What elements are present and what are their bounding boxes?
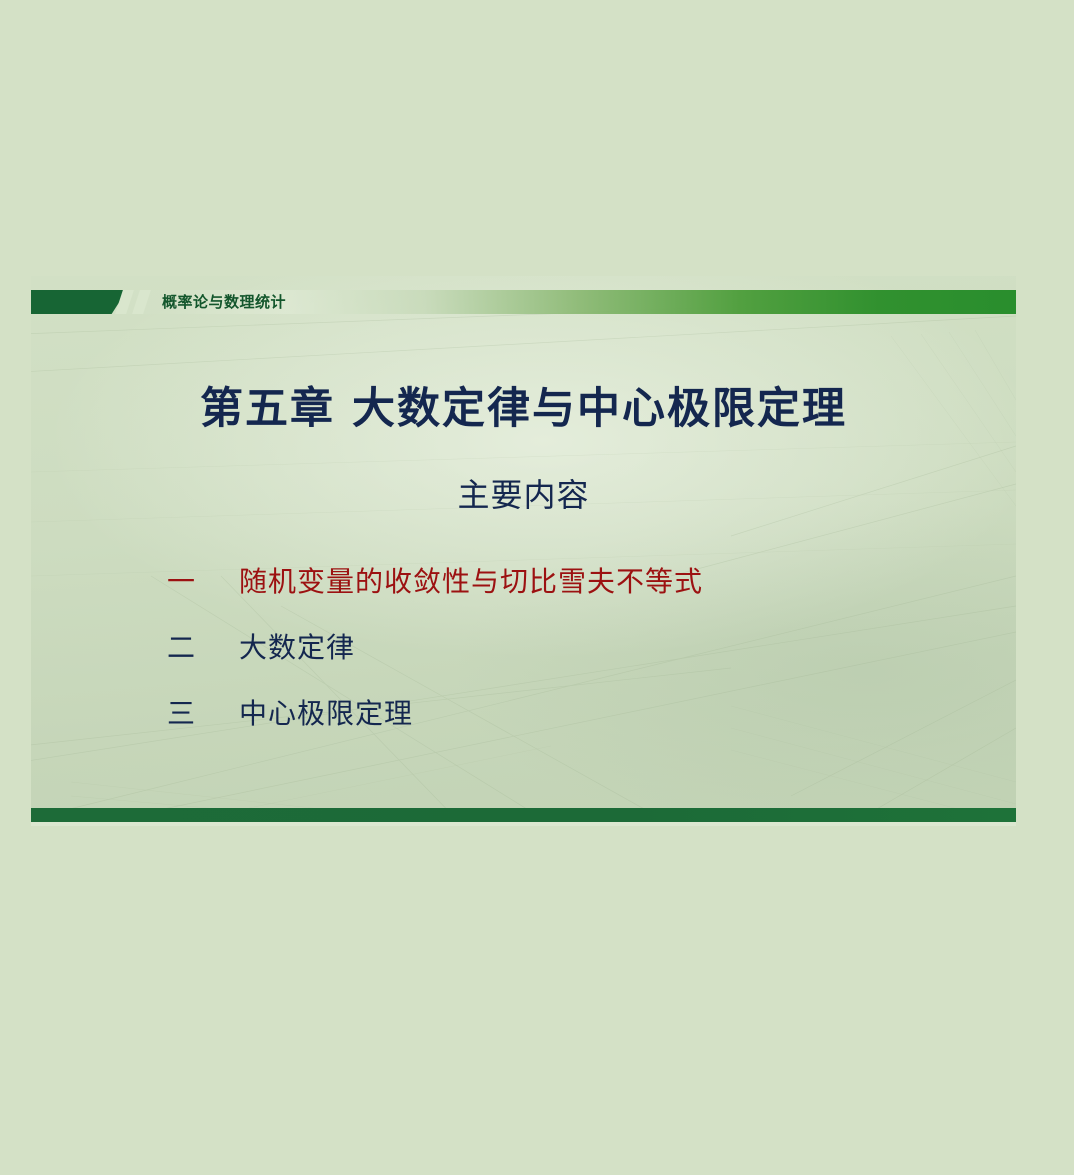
presentation-slide: 概率论与数理统计 第五章 大数定律与中心极限定理 主要内容 一 随机变量的收敛性… bbox=[31, 276, 1016, 826]
chapter-title: 第五章 大数定律与中心极限定理 bbox=[31, 374, 1016, 436]
slide-content: 第五章 大数定律与中心极限定理 主要内容 一 随机变量的收敛性与切比雪夫不等式 … bbox=[31, 276, 1016, 826]
slide-footer-strip bbox=[31, 822, 1016, 826]
section-subtitle: 主要内容 bbox=[31, 470, 1016, 516]
agenda-item-2[interactable]: 二 大数定律 bbox=[167, 626, 967, 692]
slide-footer-bar bbox=[31, 808, 1016, 822]
agenda-item-number: 三 bbox=[167, 692, 239, 732]
agenda-item-label: 随机变量的收敛性与切比雪夫不等式 bbox=[239, 560, 703, 600]
agenda-item-1[interactable]: 一 随机变量的收敛性与切比雪夫不等式 bbox=[167, 560, 967, 626]
agenda-list: 一 随机变量的收敛性与切比雪夫不等式 二 大数定律 三 中心极限定理 bbox=[167, 560, 967, 758]
agenda-item-label: 中心极限定理 bbox=[239, 692, 413, 732]
agenda-item-number: 二 bbox=[167, 626, 239, 666]
agenda-item-number: 一 bbox=[167, 560, 239, 600]
agenda-item-label: 大数定律 bbox=[239, 626, 355, 666]
agenda-item-3[interactable]: 三 中心极限定理 bbox=[167, 692, 967, 758]
